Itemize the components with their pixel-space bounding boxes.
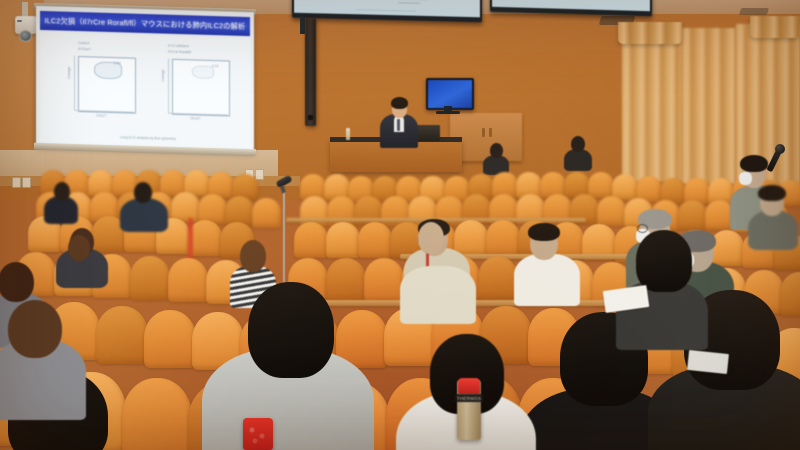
flow-plot-right-genotype: Il7rCre Rorafl/fl [168,50,191,55]
red-patterned-bag [243,418,273,450]
flow-plot-right-axis-y [168,59,169,113]
flow-plot-right-x-axis: CD127 [190,116,201,120]
wall-outlet-4 [255,169,264,180]
audience-member-striped-shirt-head [240,240,266,272]
confidence-monitor-screen [428,80,472,108]
flow-plot-left-genotype: Il7rCre/+ [78,47,91,51]
front-row-attendee-right-torso [564,149,592,171]
handout-papers-2 [687,350,729,374]
av-cabinet-handle-left [482,128,485,137]
flow-plot-left-axis-y [74,56,75,110]
wall-outlet-1 [12,177,21,188]
handheld-microphone-head-icon [775,144,785,154]
presenter-tie [397,119,400,131]
flow-plot-left-gate-percent: 2.84 [114,61,121,65]
ceiling-air-vent-2 [739,8,769,15]
security-camera-lens-icon [19,30,32,42]
curtain-valance-left [618,22,682,44]
flow-plot-right-header: ILC2-deficient [168,44,189,49]
curtain-valance-right [750,16,800,38]
flow-plot-left-header: Control [78,41,89,45]
speaker-water-bottle [346,128,350,140]
thermos-bottle-cap [458,378,480,394]
window-curtain-center-pane [682,28,736,184]
confidence-monitor-base [436,111,460,114]
window-curtain-left-pane [622,30,682,182]
flow-plot-left-y-axis: Lineage [67,67,71,79]
glasses-icon [637,224,648,233]
thermos-brand-text: THERMOS [456,395,482,402]
security-camera-led-icon [17,20,22,22]
front-row-attendee-right-head [571,136,585,152]
slide-footnote: Lung ILC2 analysis by flow cytometry [120,135,176,141]
seat-row-divider-red [188,218,193,262]
flow-plot-right-gate [192,65,214,79]
line-array-speaker [305,18,316,126]
wall-outlet-2 [22,177,31,188]
flow-plot-left-x-axis: CD127 [96,114,107,118]
flow-plot-right-gate-percent: 0.12 [212,64,219,68]
main-projection-screen: ILC2欠損（Il7rCre Rorafl/fl）マウスにおける肺内ILC2の解… [36,6,254,152]
av-cabinet-handle-right [489,128,492,137]
flow-plot-left: Control Il7rCre/+ 2.84 Lineage CD127 [54,38,146,137]
front-row-attendee-left-head [490,143,503,158]
flow-plot-right: ILC2-deficient Il7rCre Rorafl/fl 0.12 Li… [148,41,240,140]
flow-plot-right-y-axis: Lineage [161,69,165,81]
slide-body: Control Il7rCre/+ 2.84 Lineage CD127 ILC… [40,32,250,148]
presenter-hair [391,97,408,109]
audience-member-front-hoodie-head [248,282,334,378]
auditorium-lecture-scene: ILC2欠損（Il7rCre Rorafl/fl）マウスにおける肺内ILC2の解… [0,0,800,450]
aisle-microphone-stand [283,190,285,290]
